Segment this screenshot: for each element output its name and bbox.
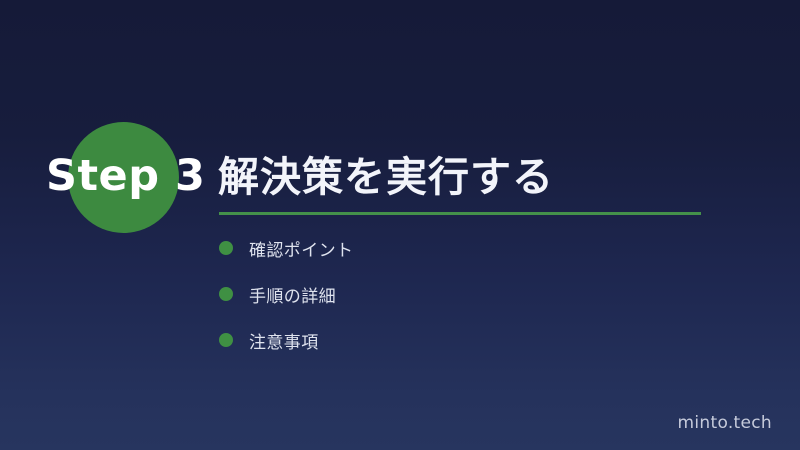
bullet-item-label: 注意事項 [249, 328, 319, 353]
bullet-item-label: 確認ポイント [249, 236, 353, 261]
bullet-list: 確認ポイント 手順の詳細 注意事項 [219, 238, 353, 376]
title-divider [219, 212, 701, 215]
bullet-item-label: 手順の詳細 [249, 282, 336, 307]
slide-title: 解決策を実行する [218, 143, 554, 203]
list-item: 手順の詳細 [219, 284, 353, 304]
slide-canvas: Step 3 解決策を実行する 確認ポイント 手順の詳細 注意事項 minto.… [0, 0, 800, 450]
bullet-dot-icon [219, 241, 233, 255]
bullet-dot-icon [219, 333, 233, 347]
list-item: 注意事項 [219, 330, 353, 350]
bullet-dot-icon [219, 287, 233, 301]
footer-branding: minto.tech [678, 413, 772, 433]
list-item: 確認ポイント [219, 238, 353, 258]
step-badge-label: Step 3 [46, 148, 246, 204]
